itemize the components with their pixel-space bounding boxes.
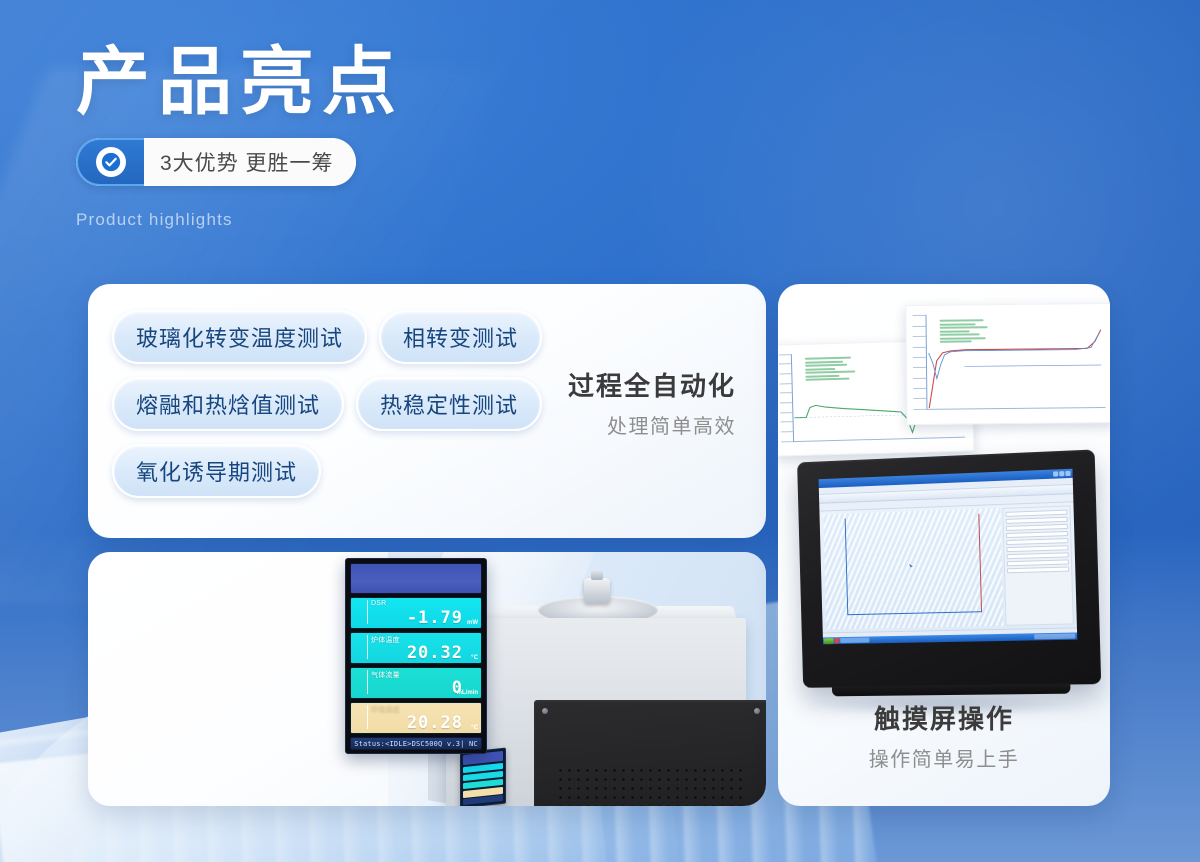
software-workspace bbox=[819, 502, 1076, 632]
test-capability-row: 玻璃化转变温度测试 相转变测试 bbox=[112, 310, 572, 364]
parameter-field[interactable] bbox=[1006, 524, 1068, 531]
parameter-field[interactable] bbox=[1006, 531, 1068, 538]
dsc-curve-red-blue bbox=[906, 304, 1110, 424]
window-close-icon[interactable] bbox=[1065, 471, 1070, 476]
instrument-chassis bbox=[446, 618, 746, 806]
plot-right-axis bbox=[978, 513, 982, 612]
card-touchscreen: 触摸屏操作 操作简单易上手 bbox=[778, 284, 1110, 806]
instrument-embedded-display bbox=[460, 748, 506, 806]
lcd-status-bar: Status:<IDLE>DSC500Q v.3| NC bbox=[350, 737, 482, 750]
lcd-label-ambient-temp: 环境温度 bbox=[371, 705, 400, 715]
pill-test-melting-enthalpy[interactable]: 熔融和热焓值测试 bbox=[112, 377, 344, 431]
taskbar-app-icon[interactable] bbox=[834, 638, 839, 643]
lcd-value-furnace-temp: 20.32 bbox=[407, 643, 463, 663]
start-button-icon[interactable] bbox=[824, 638, 834, 644]
test-capability-row: 熔融和热焓值测试 热稳定性测试 bbox=[112, 377, 572, 431]
check-circle-icon bbox=[96, 147, 126, 177]
parameter-field[interactable] bbox=[1007, 538, 1069, 545]
lcd-unit-dsr: mW bbox=[467, 620, 478, 626]
lcd-unit-gas-flow: mL/min bbox=[457, 690, 478, 696]
window-maximize-icon[interactable] bbox=[1059, 471, 1064, 476]
touchscreen-subheading: 操作简单易上手 bbox=[778, 743, 1110, 772]
lcd-row-furnace-temp: 炉体温度 20.32 ℃ bbox=[350, 632, 482, 664]
test-capability-list: 玻璃化转变温度测试 相转变测试 熔融和热焓值测试 热稳定性测试 氧化诱导期测试 bbox=[112, 310, 572, 511]
lcd-row-dsr: DSR -1.79 mW bbox=[350, 597, 482, 629]
window-minimize-icon[interactable] bbox=[1053, 471, 1058, 476]
page-header: 产品亮点 3大优势 更胜一筹 Product highlights bbox=[76, 44, 404, 230]
lcd-header-strip bbox=[350, 563, 482, 594]
pill-test-phase-transition[interactable]: 相转变测试 bbox=[379, 310, 542, 364]
lcd-row-divider bbox=[367, 635, 368, 659]
parameter-field[interactable] bbox=[1006, 517, 1068, 524]
automation-subheading: 处理简单高效 bbox=[568, 410, 736, 439]
mouse-cursor-icon bbox=[909, 564, 913, 569]
parameter-field[interactable] bbox=[1007, 545, 1069, 552]
lcd-unit-furnace-temp: ℃ bbox=[471, 654, 478, 661]
automation-heading: 过程全自动化 bbox=[568, 370, 736, 404]
parameter-side-panel[interactable] bbox=[1003, 505, 1074, 625]
parameter-field[interactable] bbox=[1007, 559, 1069, 566]
dsc-chart-printout-right bbox=[905, 303, 1110, 425]
instrument-furnace-knob bbox=[584, 578, 610, 604]
dsc-live-plot[interactable] bbox=[823, 508, 1004, 629]
lcd-label-furnace-temp: 炉体温度 bbox=[371, 635, 400, 645]
lcd-row-divider bbox=[367, 600, 368, 624]
plot-left-axis bbox=[844, 518, 848, 615]
page-title: 产品亮点 bbox=[76, 44, 404, 122]
instrument-vent-grid bbox=[556, 766, 742, 806]
lcd-readout-panel: DSR -1.79 mW 炉体温度 20.32 ℃ 气体流量 0 mL/min … bbox=[345, 558, 487, 754]
instrument-front-panel bbox=[534, 700, 766, 806]
plot-bottom-axis bbox=[847, 611, 982, 615]
pill-test-thermal-stability[interactable]: 热稳定性测试 bbox=[356, 377, 542, 431]
lcd-row-divider bbox=[367, 670, 368, 694]
system-tray[interactable] bbox=[1034, 634, 1075, 640]
pill-test-glass-transition[interactable]: 玻璃化转变温度测试 bbox=[112, 310, 367, 364]
lcd-label-gas-flow: 气体流量 bbox=[371, 670, 400, 680]
touchscreen-caption: 触摸屏操作 操作简单易上手 bbox=[778, 703, 1110, 772]
panel-screw bbox=[754, 708, 760, 714]
test-capability-row: 氧化诱导期测试 bbox=[112, 444, 572, 498]
touchscreen-monitor[interactable] bbox=[797, 449, 1101, 687]
card-automation: 玻璃化转变温度测试 相转变测试 熔融和热焓值测试 热稳定性测试 氧化诱导期测试 … bbox=[88, 284, 766, 538]
page-subtitle-english: Product highlights bbox=[76, 210, 404, 230]
badge-icon-holder bbox=[76, 138, 144, 186]
lcd-value-dsr: -1.79 bbox=[407, 608, 463, 628]
lcd-row-divider bbox=[367, 705, 368, 729]
monitor-screen[interactable] bbox=[819, 469, 1078, 645]
parameter-field[interactable] bbox=[1007, 567, 1069, 574]
pill-test-oxidation-induction[interactable]: 氧化诱导期测试 bbox=[112, 444, 321, 498]
lcd-unit-ambient-temp: ℃ bbox=[471, 724, 478, 731]
panel-screw bbox=[542, 708, 548, 714]
advantage-badge: 3大优势 更胜一筹 bbox=[76, 138, 356, 186]
parameter-field[interactable] bbox=[1007, 552, 1069, 559]
taskbar-window-item[interactable] bbox=[840, 638, 869, 643]
lcd-value-ambient-temp: 20.28 bbox=[407, 713, 463, 733]
automation-caption: 过程全自动化 处理简单高效 bbox=[568, 370, 736, 439]
badge-label: 3大优势 更胜一筹 bbox=[144, 138, 356, 186]
parameter-field[interactable] bbox=[1006, 510, 1068, 517]
lcd-label-dsr: DSR bbox=[371, 600, 386, 607]
touchscreen-heading: 触摸屏操作 bbox=[778, 703, 1110, 737]
lcd-row-gas-flow: 气体流量 0 mL/min bbox=[350, 667, 482, 699]
lcd-row-ambient-temp: 环境温度 20.28 ℃ bbox=[350, 702, 482, 734]
